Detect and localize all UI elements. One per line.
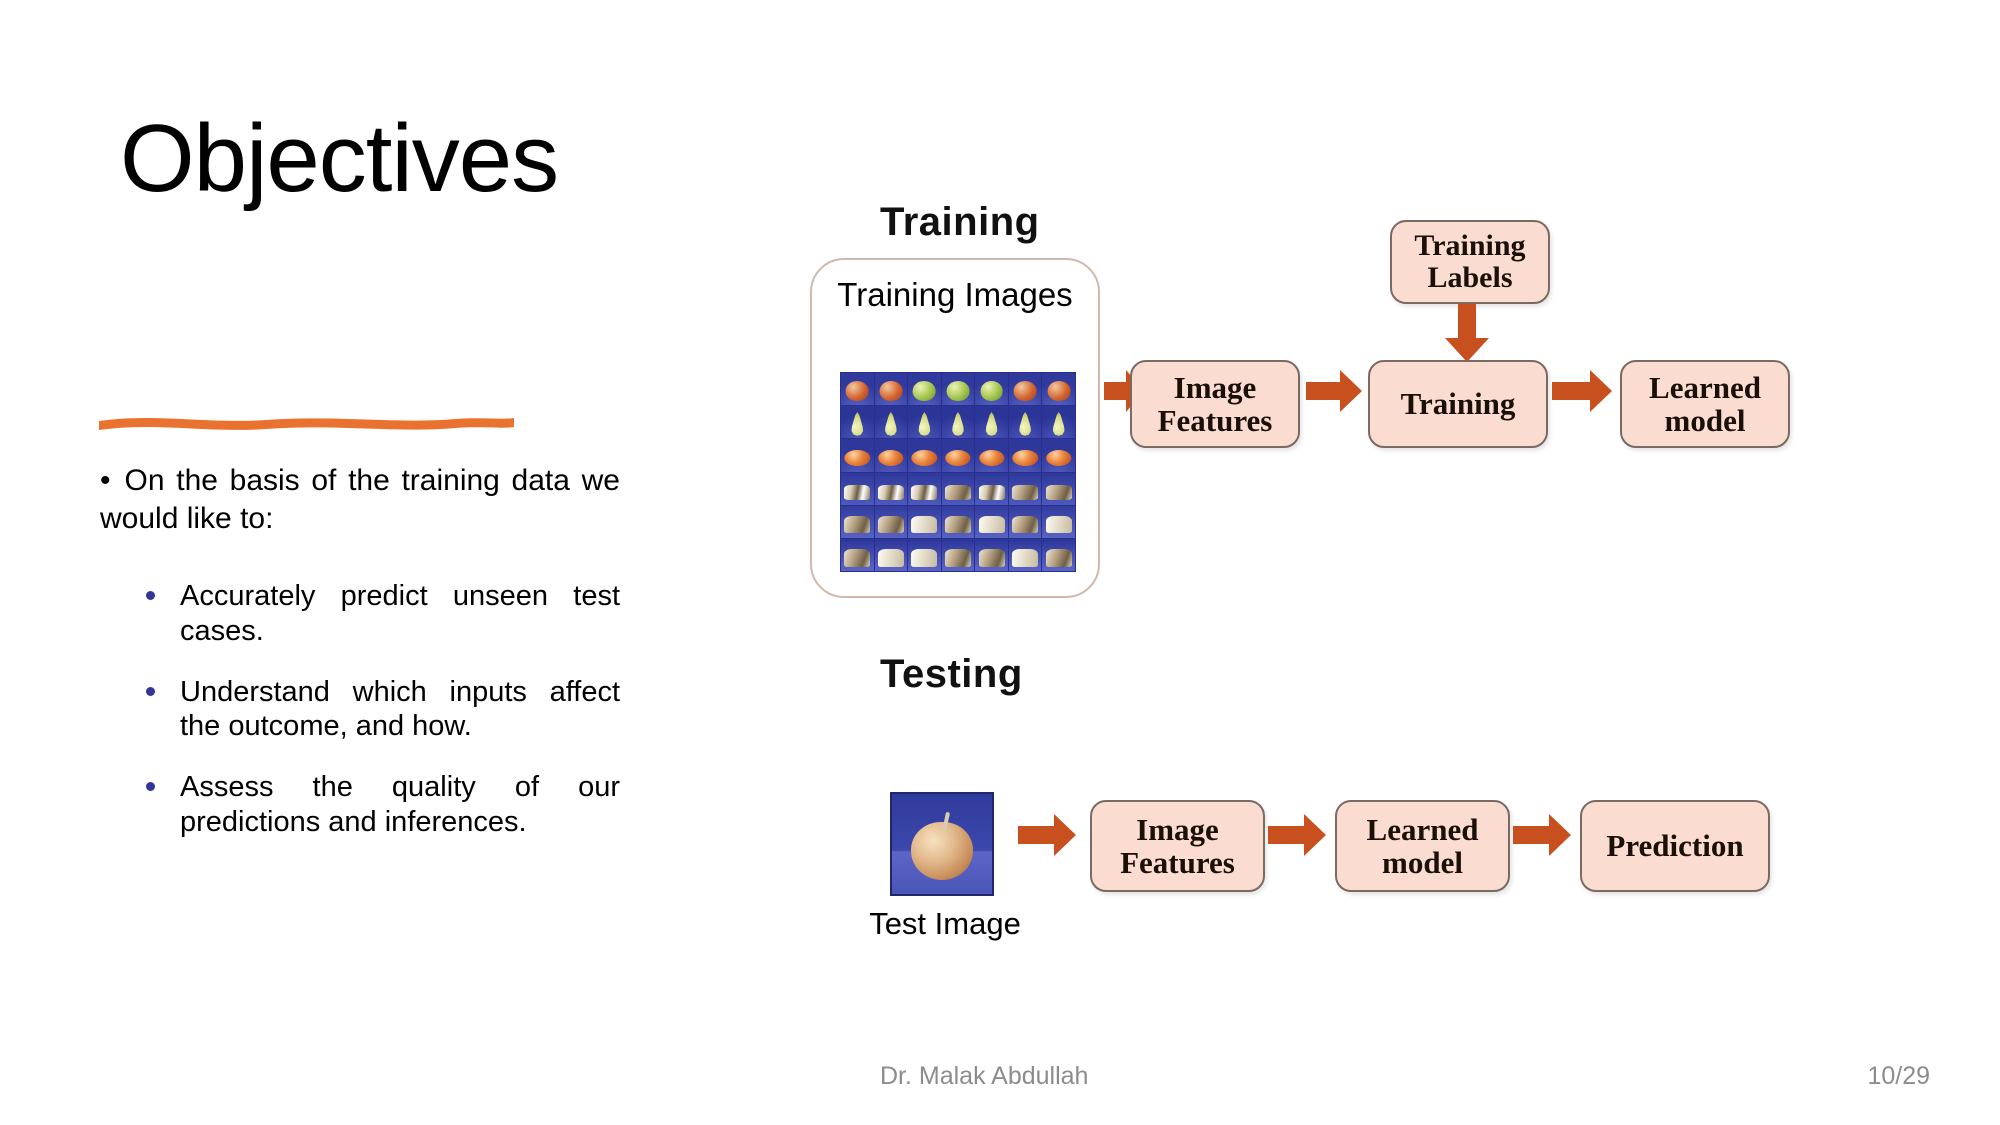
pear-thumb [983,412,1000,436]
arrow-features-to-training-icon [1306,368,1362,414]
slide-canvas: Objectives •On the basis of the training… [0,0,2000,1125]
dog-thumb [844,516,870,533]
box-learned-model-testing: Learned model [1335,800,1510,892]
pear-thumb [849,412,866,436]
box-prediction: Prediction [1580,800,1770,892]
apple-thumb [1047,381,1070,401]
arrow-training-to-learned-model-icon [1552,368,1612,414]
footer-author: Dr. Malak Abdullah [880,1062,1088,1091]
grid-cell [942,439,975,471]
cow-thumb [844,485,870,500]
pear-thumb [1017,412,1034,436]
grid-cell [942,473,975,505]
sub-bullet-text: Assess the quality of our predictions an… [180,770,620,840]
apple-thumb [846,381,869,401]
tomato-thumb [912,450,937,466]
box-label: Learned model [1337,813,1508,880]
grid-cell [1009,473,1042,505]
grid-cell [1042,406,1075,438]
tomato-thumb [845,450,870,466]
grid-cell [1009,373,1042,405]
grid-cell [841,539,874,571]
grid-cell [875,439,908,471]
grid-cell [908,539,941,571]
box-training-step: Training [1368,360,1548,448]
training-images-label: Training Images [812,276,1098,314]
sub-bullet-text: Accurately predict unseen test cases. [180,579,620,649]
grid-cell [875,539,908,571]
box-image-features-training: Image Features [1130,360,1300,448]
box-training-labels: Training Labels [1390,220,1550,304]
grid-cell [1042,539,1075,571]
apple-thumb [913,381,936,401]
cow-thumb [878,485,904,500]
pear-thumb [950,412,967,436]
grid-cell [1009,539,1042,571]
grid-cell [841,439,874,471]
bullet-dot-icon [146,687,155,696]
body-text-block: •On the basis of the training data we wo… [100,462,620,840]
bullet-glyph-level1: • [100,464,111,497]
ml-pipeline-diagram: Training Training Images [790,200,1930,940]
cow-thumb [1046,485,1072,500]
grid-cell [875,473,908,505]
title-underline-brushstroke [96,404,516,438]
arrow-learned-model-to-prediction-icon [1513,812,1571,858]
tomato-thumb [1046,450,1071,466]
grid-cell [975,373,1008,405]
list-item: Accurately predict unseen test cases. [100,579,620,649]
grid-cell [942,506,975,538]
cow-thumb [1012,485,1038,500]
dog-thumb [1046,516,1072,533]
box-label: Image Features [1132,371,1298,438]
grid-cell [975,539,1008,571]
grid-cell [841,373,874,405]
grid-cell [841,473,874,505]
horse-thumb [911,549,937,566]
title-block: Objectives [120,112,620,206]
grid-cell [875,406,908,438]
tomato-thumb [979,450,1004,466]
grid-cell [1042,473,1075,505]
cow-thumb [979,485,1005,500]
arrow-test-image-to-features-icon [1018,812,1076,858]
arrow-labels-to-training-icon [1442,304,1492,362]
bullet-dot-icon [146,782,155,791]
grid-cell [908,473,941,505]
horse-thumb [844,549,870,566]
box-learned-model-training: Learned model [1620,360,1790,448]
grid-cell [942,539,975,571]
grid-cell [942,373,975,405]
pear-thumb [882,412,899,436]
bullet-level1-text: On the basis of the training data we wou… [100,464,620,535]
tomato-thumb [945,450,970,466]
box-label: Prediction [1598,829,1751,862]
box-label: Training Labels [1392,230,1548,295]
diagram-heading-testing: Testing [880,652,1023,697]
grid-cell [1009,506,1042,538]
grid-cell [1009,439,1042,471]
list-item: Assess the quality of our predictions an… [100,770,620,840]
grid-cell [1042,373,1075,405]
grid-cell [975,406,1008,438]
test-image-thumbnail [890,792,994,896]
horse-thumb [979,549,1005,566]
box-label: Training [1393,387,1524,420]
box-label: Learned model [1622,371,1788,438]
training-images-card: Training Images [810,258,1100,598]
dog-thumb [945,516,971,533]
arrow-features-to-learned-model-icon [1268,812,1326,858]
grid-cell [908,406,941,438]
grid-cell [908,506,941,538]
sub-bullet-text: Understand which inputs affect the outco… [180,675,620,745]
grid-cell [975,473,1008,505]
apple-thumb [980,381,1003,401]
grid-cell [841,406,874,438]
grid-cell [1009,406,1042,438]
tomato-thumb [1012,450,1037,466]
bullet-level1: •On the basis of the training data we wo… [100,462,620,537]
tomato-thumb [878,450,903,466]
apple-thumb [1014,381,1037,401]
grid-cell [875,373,908,405]
grid-cell [908,439,941,471]
dog-thumb [1012,516,1038,533]
grid-cell [841,506,874,538]
horse-thumb [1012,549,1038,566]
dog-thumb [878,516,904,533]
grid-cell [942,406,975,438]
grid-cell [1042,439,1075,471]
bullet-dot-icon [146,591,155,600]
diagram-heading-training: Training [880,200,1040,245]
pear-thumb [1050,412,1067,436]
cow-thumb [911,485,937,500]
box-image-features-testing: Image Features [1090,800,1265,892]
list-item: Understand which inputs affect the outco… [100,675,620,745]
grid-cell [975,439,1008,471]
cow-thumb [945,485,971,500]
grid-cell [875,506,908,538]
page-title: Objectives [120,112,620,206]
dog-thumb [911,516,937,533]
test-image-label: Test Image [810,906,1080,942]
horse-thumb [1046,549,1072,566]
pear-thumb [916,412,933,436]
horse-thumb [945,549,971,566]
sub-bullet-list: Accurately predict unseen test cases. Un… [100,579,620,840]
grid-cell [975,506,1008,538]
apple-thumb [879,381,902,401]
grid-cell [1042,506,1075,538]
dog-thumb [979,516,1005,533]
horse-thumb [878,549,904,566]
grid-cell [908,373,941,405]
slide-footer: Dr. Malak Abdullah 10/29 [880,1062,1930,1091]
apple-thumb [947,381,970,401]
box-label: Image Features [1092,813,1263,880]
training-images-grid [840,372,1076,572]
footer-page-number: 10/29 [1867,1062,1930,1091]
